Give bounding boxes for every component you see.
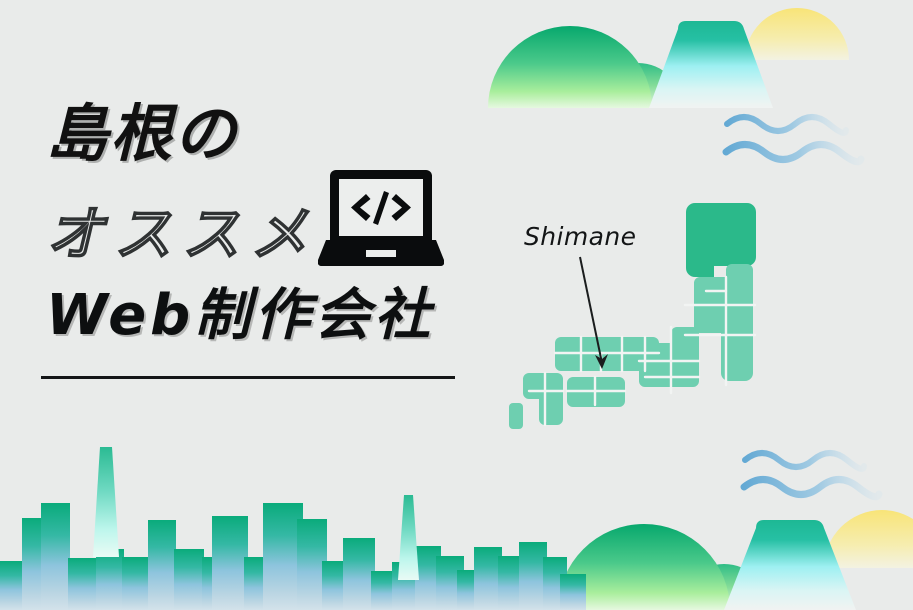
building (297, 519, 327, 610)
building (436, 556, 464, 610)
building (560, 574, 586, 610)
mountain-shape-bottom (724, 520, 856, 610)
building (371, 571, 396, 610)
building (0, 561, 60, 610)
trackpad (366, 250, 396, 257)
building (244, 557, 268, 610)
building (543, 557, 567, 610)
building (474, 547, 502, 610)
building (174, 549, 204, 610)
headline-line-1: 島根の (46, 103, 238, 165)
building (62, 503, 70, 610)
building (68, 558, 98, 610)
headline-line-2: オススメ (46, 205, 318, 263)
building (415, 546, 441, 610)
sun-shape-top (745, 8, 849, 60)
region-tohoku (694, 264, 753, 381)
region-kyushu (523, 373, 563, 425)
shimane-label: Shimane (524, 222, 636, 251)
building (22, 518, 64, 610)
wave-line-bottom-1 (745, 453, 864, 469)
wave-line-bottom-2 (744, 480, 879, 497)
hill-large-top (488, 26, 652, 108)
building (457, 570, 481, 610)
laptop-code-icon (318, 170, 444, 266)
scenery-bottom-right (558, 453, 913, 610)
building (148, 520, 176, 610)
building (96, 549, 124, 610)
hill-small-bottom (678, 564, 770, 610)
wave-line-top-2 (726, 145, 861, 162)
headline-line-3: Web制作会社 (46, 288, 434, 344)
building (498, 556, 524, 610)
tower-tall-right (398, 495, 419, 580)
building (212, 516, 248, 610)
city-skyline (0, 447, 586, 610)
region-okinawa (509, 403, 523, 429)
wave-line-top-1 (727, 117, 846, 133)
sun-shape-bottom (824, 510, 913, 568)
building (263, 503, 303, 610)
building (392, 562, 420, 610)
title-underline (41, 376, 455, 379)
building (519, 542, 547, 610)
building (343, 538, 375, 610)
banner-canvas: 島根の オススメ Web制作会社 (0, 0, 913, 610)
scenery-top-right (488, 8, 861, 162)
hill-small-top (593, 63, 683, 108)
hill-large-bottom (558, 524, 730, 610)
mountain-shape-top (649, 21, 773, 108)
building (122, 557, 150, 610)
building (322, 561, 348, 610)
tower-tall-left (93, 447, 119, 557)
building (41, 503, 69, 610)
building (202, 557, 230, 610)
